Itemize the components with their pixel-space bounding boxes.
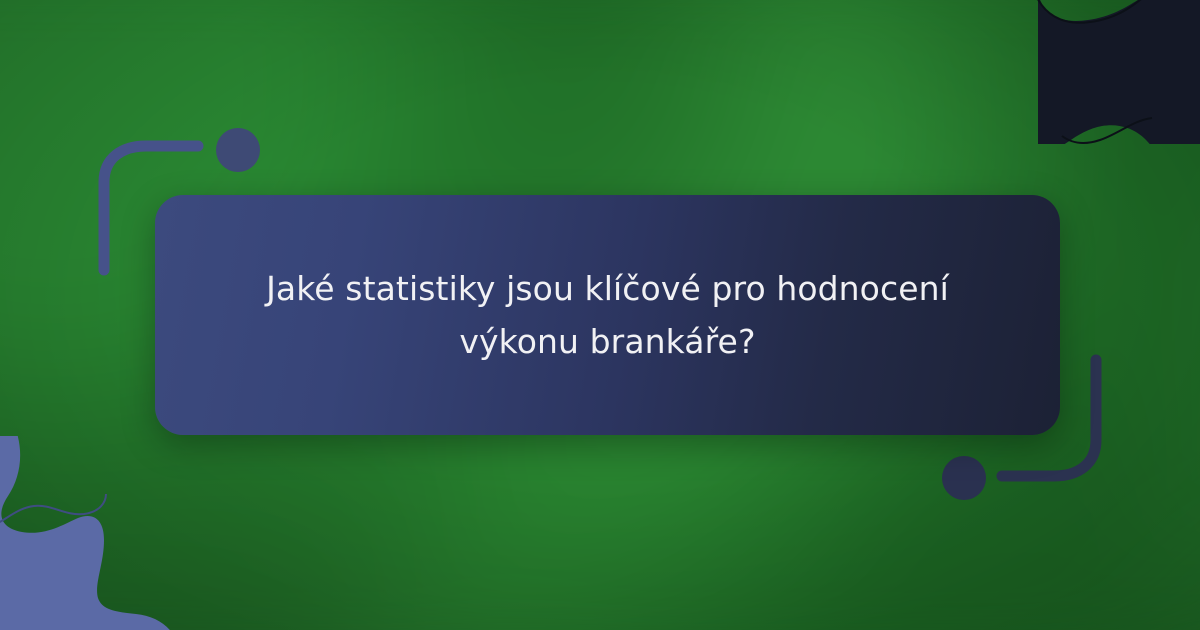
social-card-canvas: Jaké statistiky jsou klíčové pro hodnoce… [0,0,1200,630]
accent-dot-bottom-right-icon [942,456,986,500]
question-card: Jaké statistiky jsou klíčové pro hodnoce… [155,195,1060,435]
accent-dot-top-left-icon [216,128,260,172]
question-title: Jaké statistiky jsou klíčové pro hodnoce… [248,262,968,369]
